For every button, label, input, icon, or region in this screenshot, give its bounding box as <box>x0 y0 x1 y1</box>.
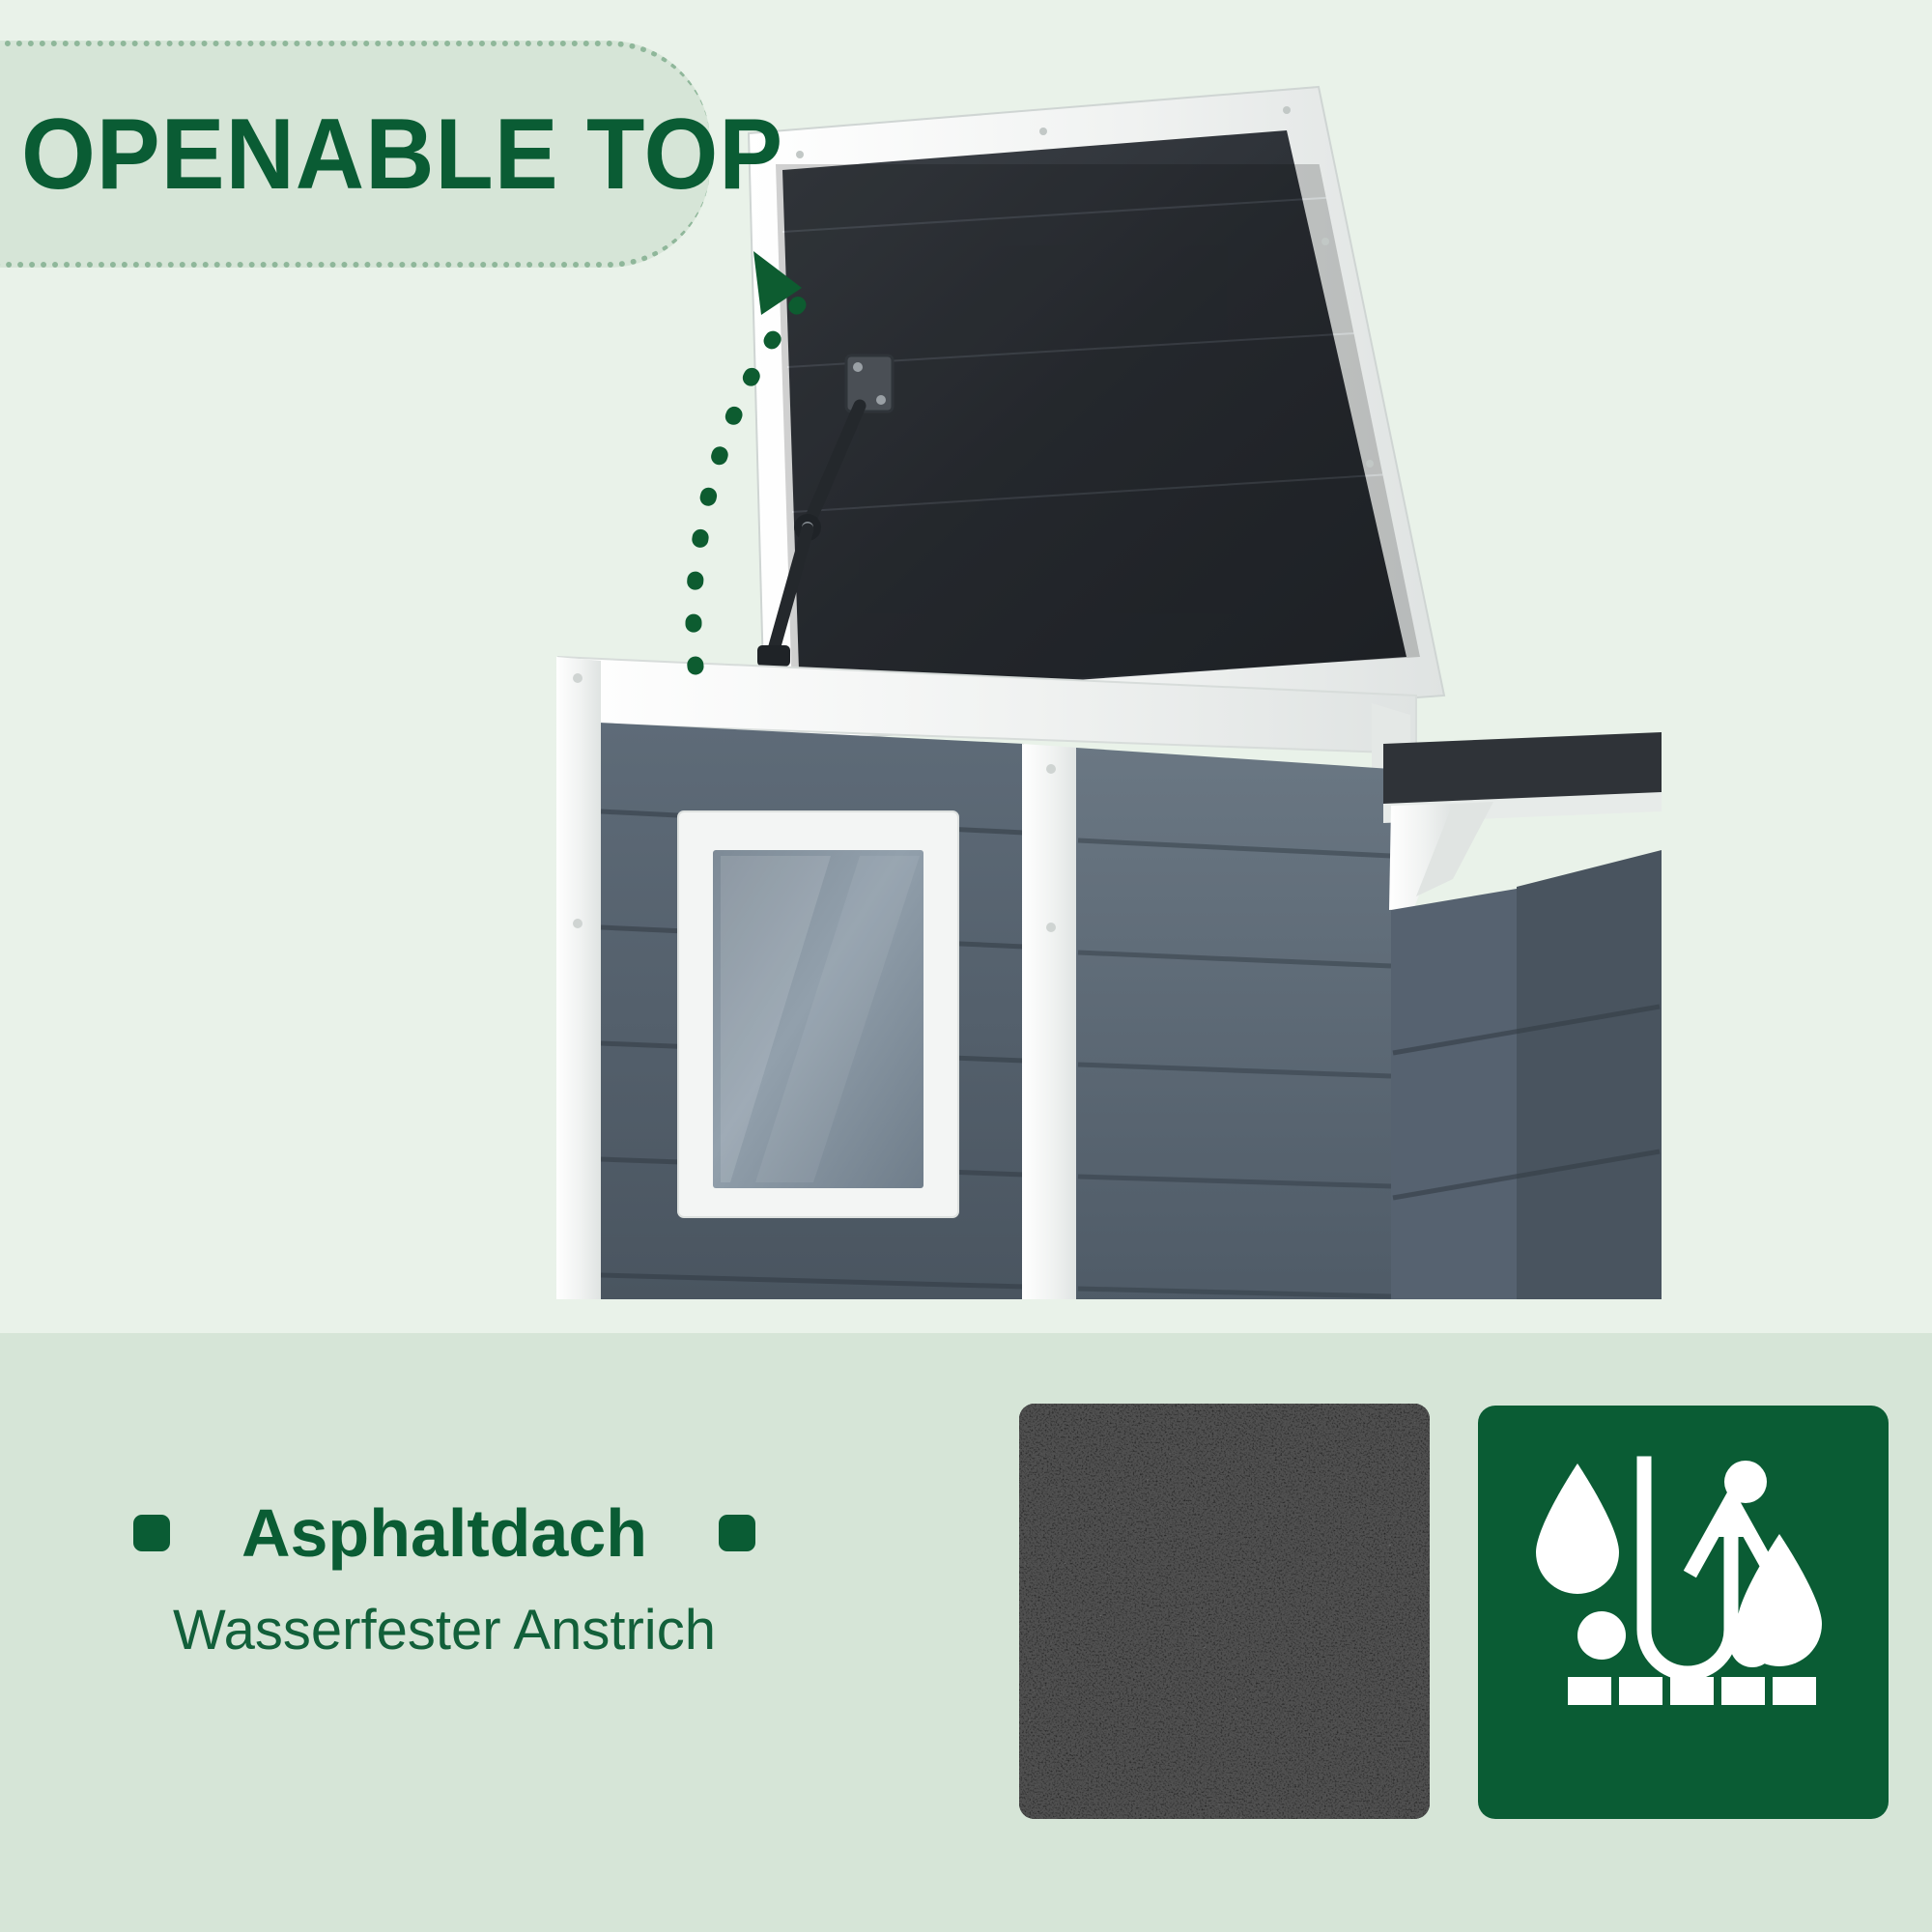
badge-label: OPENABLE TOP <box>21 104 783 205</box>
asphalt-texture-swatch <box>1019 1404 1430 1819</box>
callout-arrow <box>580 222 889 676</box>
square-bullet-icon <box>133 1515 170 1551</box>
hero-section: OPENABLE TOP <box>0 0 1932 1333</box>
feature-subtitle: Wasserfester Anstrich <box>116 1600 773 1662</box>
square-bullet-icon <box>719 1515 755 1551</box>
section-divider <box>0 1299 1932 1334</box>
product-feature-card: OPENABLE TOP Asphaltdach Wasserfester An… <box>0 0 1932 1932</box>
window <box>678 811 958 1217</box>
feature-text-block: Asphaltdach Wasserfester Anstrich <box>116 1499 773 1662</box>
waterproof-icon <box>1478 1406 1889 1819</box>
feature-title: Asphaltdach <box>241 1499 647 1567</box>
side-canopy <box>1383 732 1662 1323</box>
feature-heading-row: Asphaltdach <box>116 1499 773 1567</box>
dog-house-body <box>556 657 1662 1323</box>
